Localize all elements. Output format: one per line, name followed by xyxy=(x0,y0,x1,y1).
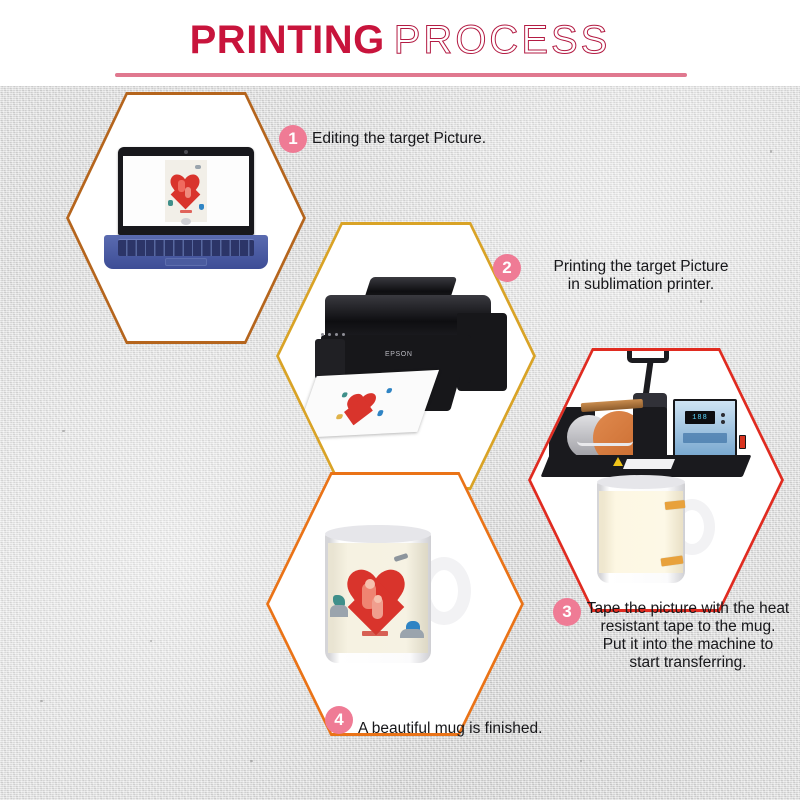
page-title: PRINTINGPROCESS xyxy=(0,18,800,63)
laptop-screen xyxy=(123,156,249,226)
step-badge-1: 1 xyxy=(279,125,307,153)
step-badge-3: 3 xyxy=(553,598,581,626)
laptop-illustration xyxy=(104,147,268,269)
laptop-trackpad xyxy=(165,258,207,266)
warning-triangle-icon xyxy=(613,457,623,466)
finished-mug-illustration xyxy=(319,525,485,675)
step-caption-3: Tape the picture with the heat resistant… xyxy=(575,600,800,672)
step-badge-2: 2 xyxy=(493,254,521,282)
taped-mug-rim xyxy=(597,475,685,489)
press-cable xyxy=(577,441,633,446)
step-caption-1: Editing the target Picture. xyxy=(312,130,612,148)
step-caption-4: A beautiful mug is finished. xyxy=(358,720,678,738)
hp-logo-icon xyxy=(181,218,191,225)
title-bold-part: PRINTING xyxy=(190,18,385,62)
printer-brand-label: EPSON xyxy=(385,351,413,358)
header-band: PRINTINGPROCESS xyxy=(0,0,800,86)
press-label-strip xyxy=(623,459,675,469)
press-power-switch[interactable] xyxy=(739,435,746,449)
heart-picture-on-screen xyxy=(165,160,207,222)
title-divider xyxy=(115,73,687,77)
taped-mug-illustration xyxy=(591,475,727,591)
laptop-base xyxy=(104,235,268,269)
press-control-panel: 188 xyxy=(673,399,737,457)
laptop-keyboard xyxy=(118,239,254,256)
printed-sheet xyxy=(295,370,439,438)
laptop-lid xyxy=(118,147,254,235)
press-temperature-display: 188 xyxy=(685,411,715,424)
printer-illustration: EPSON xyxy=(307,277,512,437)
step-caption-2: Printing the target Picture in sublimati… xyxy=(516,258,766,294)
step-badge-4: 4 xyxy=(325,706,353,734)
mug-printed-artwork xyxy=(328,543,428,653)
heart-picture-on-sheet xyxy=(329,384,398,427)
finished-mug-rim xyxy=(325,525,431,543)
title-thin-part: PROCESS xyxy=(394,18,611,62)
printer-ink-tank xyxy=(315,339,345,379)
printer-indicator-lights xyxy=(321,333,345,336)
laptop-webcam-icon xyxy=(184,150,188,154)
